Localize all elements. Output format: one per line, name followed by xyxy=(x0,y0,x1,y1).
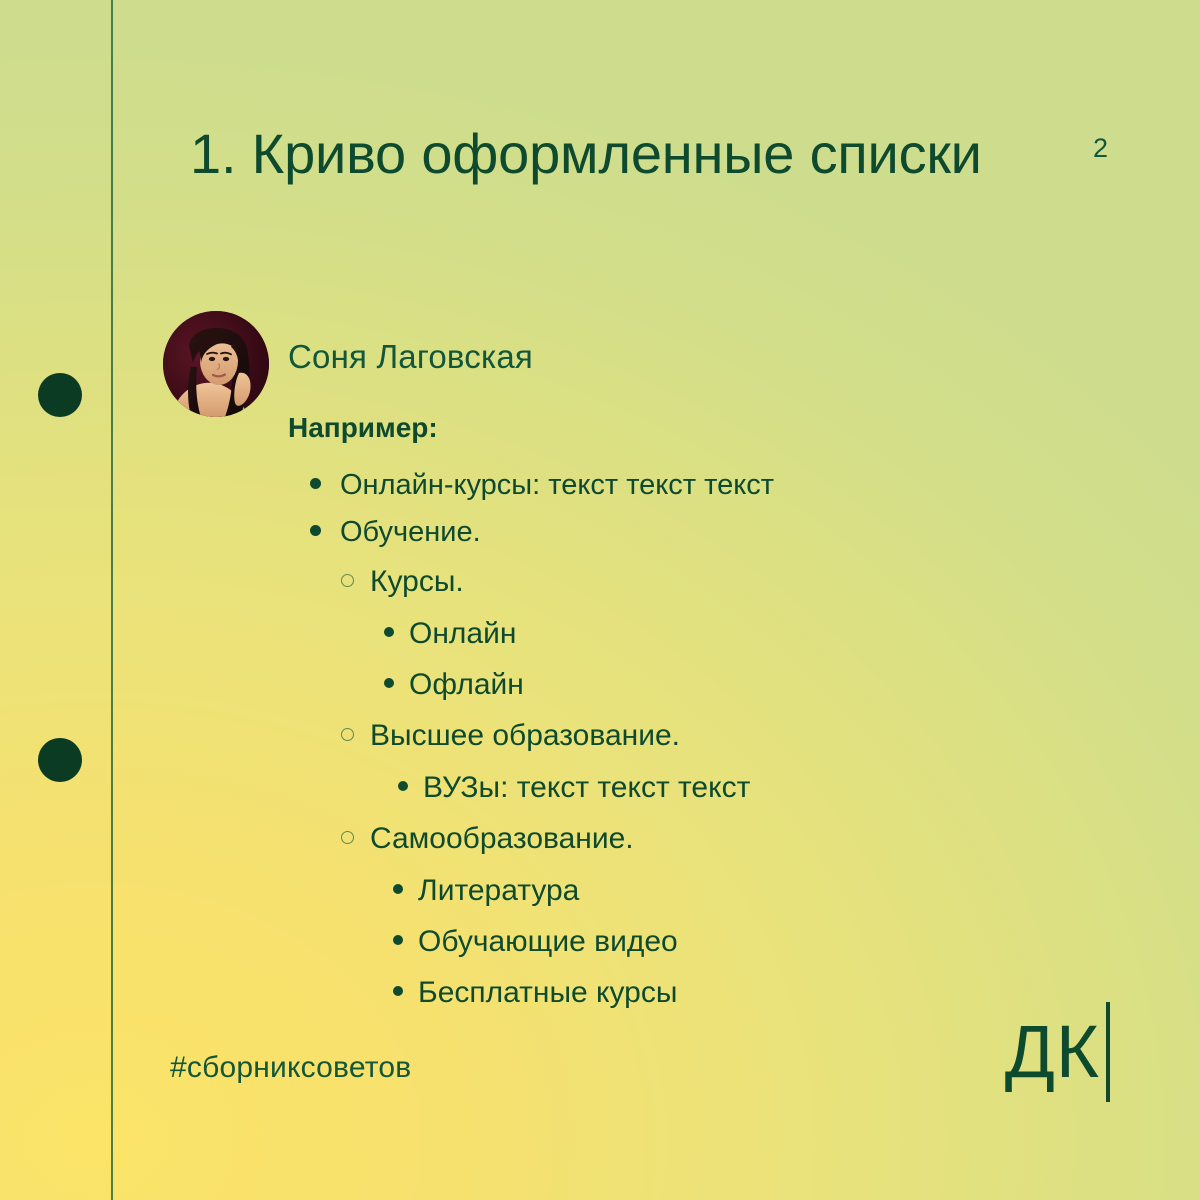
bullet-filled-dot-icon xyxy=(398,781,408,791)
list-item: Самообразование. xyxy=(0,813,1200,865)
bullet-filled-dot-icon xyxy=(310,525,321,536)
bullet-hollow-circle-icon xyxy=(341,728,354,741)
list-item-label: ВУЗы: текст текст текст xyxy=(423,762,750,813)
page-title: 1. Криво оформленные списки xyxy=(190,118,990,191)
bullet-filled-dot-icon xyxy=(310,478,321,489)
bullet-hollow-circle-icon xyxy=(341,574,354,587)
bullet-filled-dot-icon xyxy=(384,627,394,637)
list-item-label: Высшее образование. xyxy=(370,710,680,762)
list-item: Офлайн xyxy=(0,659,1200,710)
list-item-label: Офлайн xyxy=(409,659,524,710)
list-item-label: Литература xyxy=(418,865,579,916)
bullet-filled-dot-icon xyxy=(393,986,403,996)
list-item-label: Обучение. xyxy=(340,509,481,556)
example-label: Например: xyxy=(288,412,438,444)
slide-canvas: 1. Криво оформленные списки 2 xyxy=(0,0,1200,1200)
list-item-label: Обучающие видео xyxy=(418,916,678,967)
list-item-label: Онлайн xyxy=(409,608,516,659)
list-item: Онлайн xyxy=(0,608,1200,659)
brand-logo-bar-icon xyxy=(1106,1002,1110,1102)
list-item: Онлайн-курсы: текст текст текст xyxy=(0,462,1200,509)
page-number: 2 xyxy=(1093,133,1108,164)
bullet-filled-dot-icon xyxy=(393,935,403,945)
list-item: Высшее образование. xyxy=(0,710,1200,762)
list-item: Литература xyxy=(0,865,1200,916)
list-item: Курсы. xyxy=(0,556,1200,608)
list-item-label: Онлайн-курсы: текст текст текст xyxy=(340,462,774,509)
avatar-photo-icon xyxy=(163,311,269,417)
punch-hole-top xyxy=(38,373,82,417)
hashtag: #сборниксоветов xyxy=(170,1051,411,1085)
bullet-filled-dot-icon xyxy=(384,678,394,688)
nested-list: Онлайн-курсы: текст текст текст Обучение… xyxy=(0,462,1200,1018)
brand-logo-text: ДК xyxy=(1005,1015,1100,1089)
list-item: ВУЗы: текст текст текст xyxy=(0,762,1200,813)
bullet-filled-dot-icon xyxy=(393,884,403,894)
list-item-label: Самообразование. xyxy=(370,813,634,865)
bullet-hollow-circle-icon xyxy=(341,831,354,844)
list-item-label: Бесплатные курсы xyxy=(418,967,677,1018)
list-item-label: Курсы. xyxy=(370,556,464,608)
author-name: Соня Лаговская xyxy=(288,338,533,376)
brand-logo: ДК xyxy=(1005,1004,1110,1100)
list-item: Обучающие видео xyxy=(0,916,1200,967)
avatar xyxy=(163,311,269,417)
list-item: Обучение. xyxy=(0,509,1200,556)
